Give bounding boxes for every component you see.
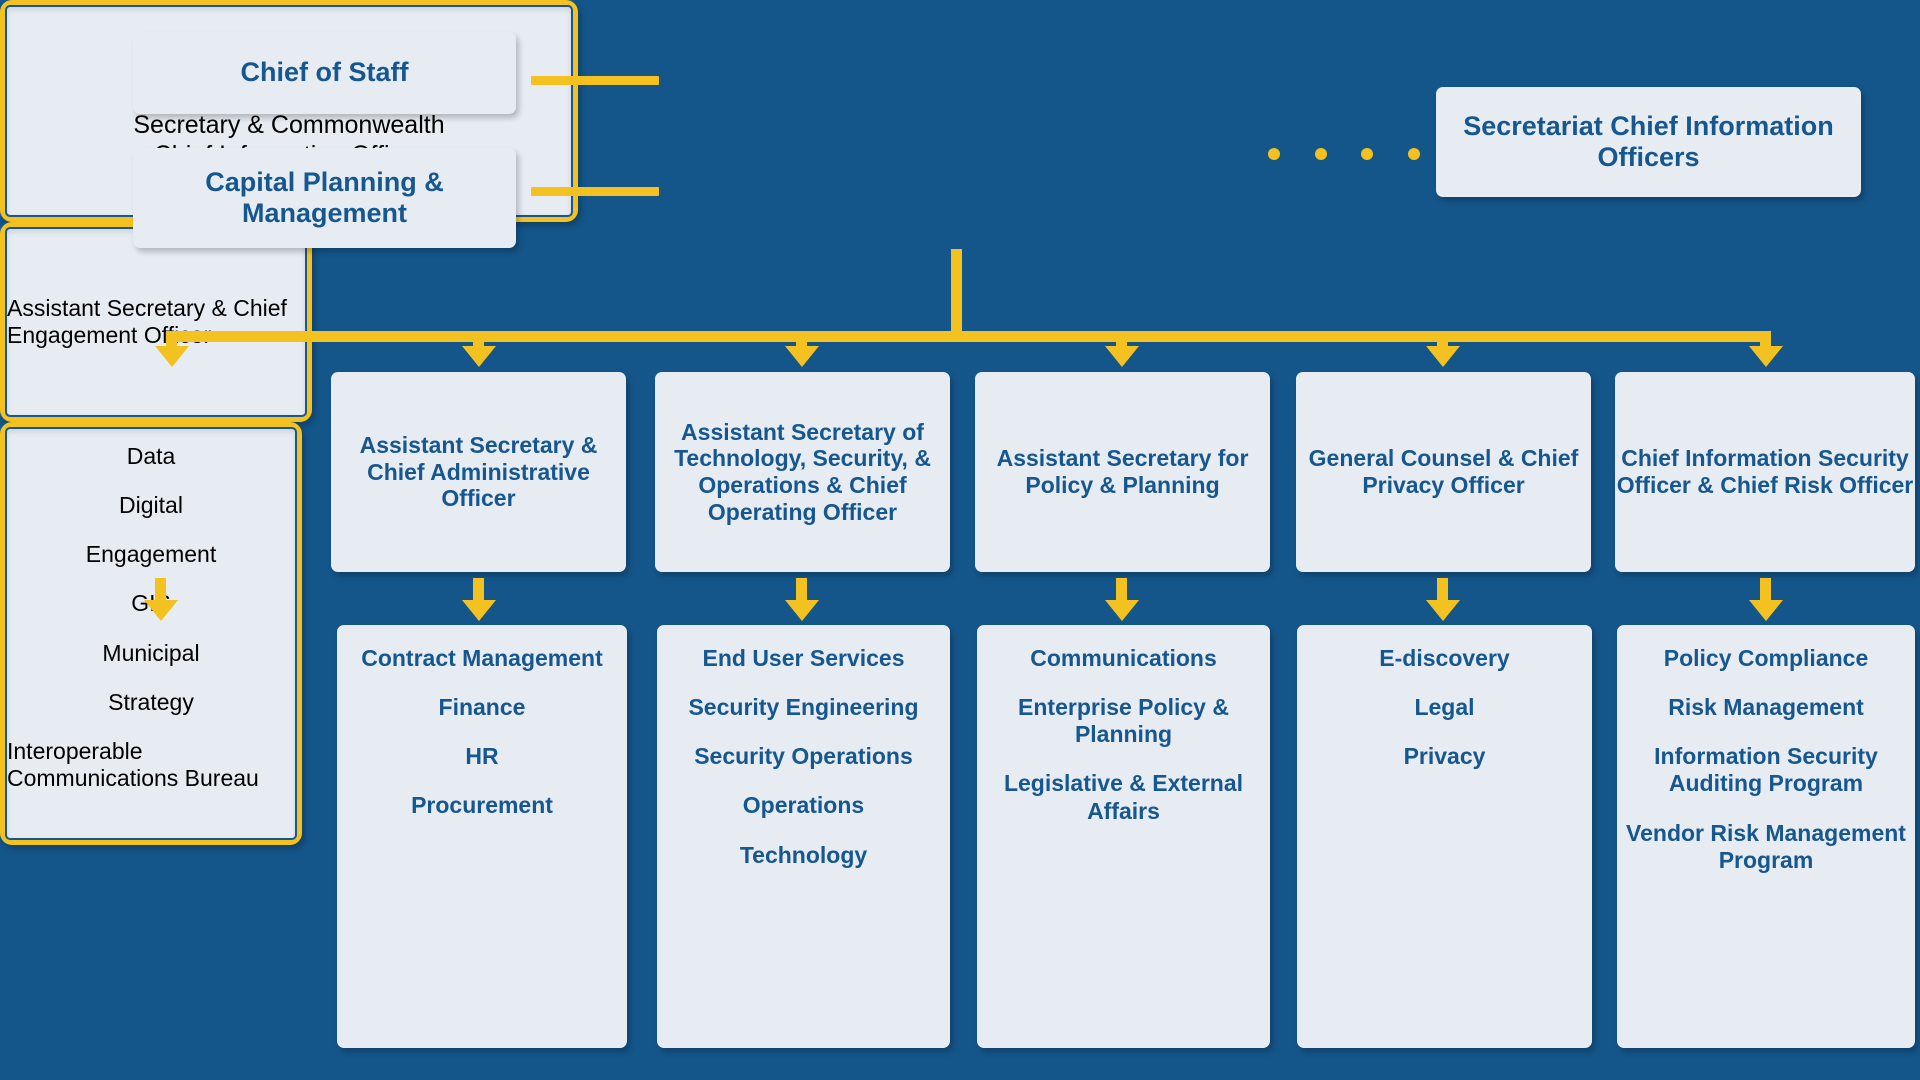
detail-item: Municipal [102,640,199,667]
secretary-title-line-1: Secretary & Commonwealth [133,110,444,141]
card-secretariat-cios-label: Secretariat Chief Information Officers [1436,111,1861,174]
detail-item: Strategy [108,689,194,716]
detail-item: Vendor Risk Management Program [1617,820,1915,874]
card-detail-0[interactable]: DataDigitalEngagementGISMunicipalStrateg… [0,422,302,845]
card-role-5-label: Chief Information Security Officer & Chi… [1615,445,1915,498]
card-role-3[interactable]: Assistant Secretary for Policy & Plannin… [975,372,1270,572]
detail-item: Interoperable Communications Bureau [7,738,295,792]
card-role-1-label: Assistant Secretary & Chief Administrati… [331,432,626,512]
card-chief-of-staff[interactable]: Chief of Staff [133,32,516,114]
arrow-down-icon-col-5 [1749,346,1783,367]
arrow-down-icon-detail-1 [462,600,496,621]
detail-item: Legal [1414,694,1474,721]
org-chart-canvas: Chief of Staff Capital Planning & Manage… [0,0,1920,1080]
detail-item: Information Security Auditing Program [1617,743,1915,797]
arrow-down-icon-col-1 [462,346,496,367]
arrow-down-icon-detail-2 [785,600,819,621]
card-detail-0-inner: DataDigitalEngagementGISMunicipalStrateg… [5,427,297,840]
arrow-down-icon-detail-0 [144,600,178,621]
card-secretariat-chief-information-officers[interactable]: Secretariat Chief Information Officers [1436,87,1861,197]
detail-item: Technology [740,842,867,869]
card-capital-planning-management-label: Capital Planning & Management [133,167,516,230]
dot-icon [1315,148,1327,160]
arrow-down-icon-col-3 [1105,346,1139,367]
card-role-3-label: Assistant Secretary for Policy & Plannin… [975,445,1270,498]
card-role-0[interactable]: Assistant Secretary & Chief Engagement O… [0,222,312,422]
arrow-down-icon-col-4 [1426,346,1460,367]
card-chief-of-staff-label: Chief of Staff [241,57,409,88]
detail-item: Security Engineering [688,694,918,721]
card-detail-3[interactable]: CommunicationsEnterprise Policy & Planni… [977,625,1270,1048]
detail-item: Policy Compliance [1664,645,1869,672]
detail-item: Finance [439,694,526,721]
detail-item: Digital [119,492,183,519]
card-role-2[interactable]: Assistant Secretary of Technology, Secur… [655,372,950,572]
card-detail-1[interactable]: Contract ManagementFinanceHRProcurement [337,625,627,1048]
connector-capital-planning [531,187,659,196]
detail-item: E-discovery [1379,645,1509,672]
card-detail-5[interactable]: Policy ComplianceRisk ManagementInformat… [1617,625,1915,1048]
detail-item: Contract Management [361,645,603,672]
detail-item: End User Services [702,645,904,672]
connector-chief-of-staff [531,76,659,85]
card-role-0-inner: Assistant Secretary & Chief Engagement O… [5,227,307,417]
dot-icon [1268,148,1280,160]
connector-dotted-secretariat [1268,148,1420,160]
card-role-4-label: General Counsel & Chief Privacy Officer [1296,445,1591,498]
detail-item: Legislative & External Affairs [977,770,1270,824]
connector-distribution-bar [166,331,1771,342]
card-role-4[interactable]: General Counsel & Chief Privacy Officer [1296,372,1591,572]
arrow-down-icon-detail-4 [1426,600,1460,621]
detail-item: Security Operations [694,743,913,770]
detail-item: Engagement [86,541,216,568]
detail-item: Data [127,443,176,470]
detail-item: Communications [1030,645,1217,672]
card-capital-planning-management[interactable]: Capital Planning & Management [133,148,516,248]
card-detail-2[interactable]: End User ServicesSecurity EngineeringSec… [657,625,950,1048]
card-role-1[interactable]: Assistant Secretary & Chief Administrati… [331,372,626,572]
detail-item: Operations [743,792,864,819]
card-role-2-label: Assistant Secretary of Technology, Secur… [655,419,950,526]
card-detail-4[interactable]: E-discoveryLegalPrivacy [1297,625,1592,1048]
arrow-down-icon-detail-3 [1105,600,1139,621]
detail-item: Procurement [411,792,553,819]
arrow-down-icon-col-2 [785,346,819,367]
arrow-down-icon-detail-5 [1749,600,1783,621]
detail-item: Enterprise Policy & Planning [977,694,1270,748]
detail-item: Risk Management [1668,694,1864,721]
dot-icon [1361,148,1373,160]
arrow-down-icon-col-0 [155,346,189,367]
detail-item: Privacy [1404,743,1486,770]
connector-trunk-vertical [951,249,962,337]
card-role-5[interactable]: Chief Information Security Officer & Chi… [1615,372,1915,572]
dot-icon [1408,148,1420,160]
detail-item: HR [465,743,498,770]
